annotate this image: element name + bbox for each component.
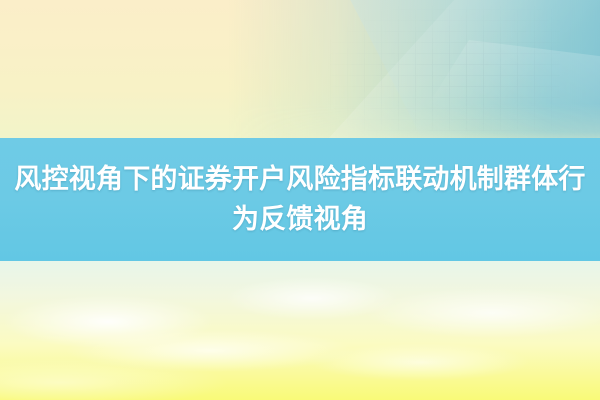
page-title: 风控视角下的证券开户风险指标联动机制群体行为反馈视角 — [10, 160, 590, 240]
background-clouds — [0, 255, 600, 400]
poster-banner: 风控视角下的证券开户风险指标联动机制群体行为反馈视角 — [0, 0, 600, 400]
title-band: 风控视角下的证券开户风险指标联动机制群体行为反馈视角 — [0, 138, 600, 261]
background-document-texture — [330, 6, 560, 131]
